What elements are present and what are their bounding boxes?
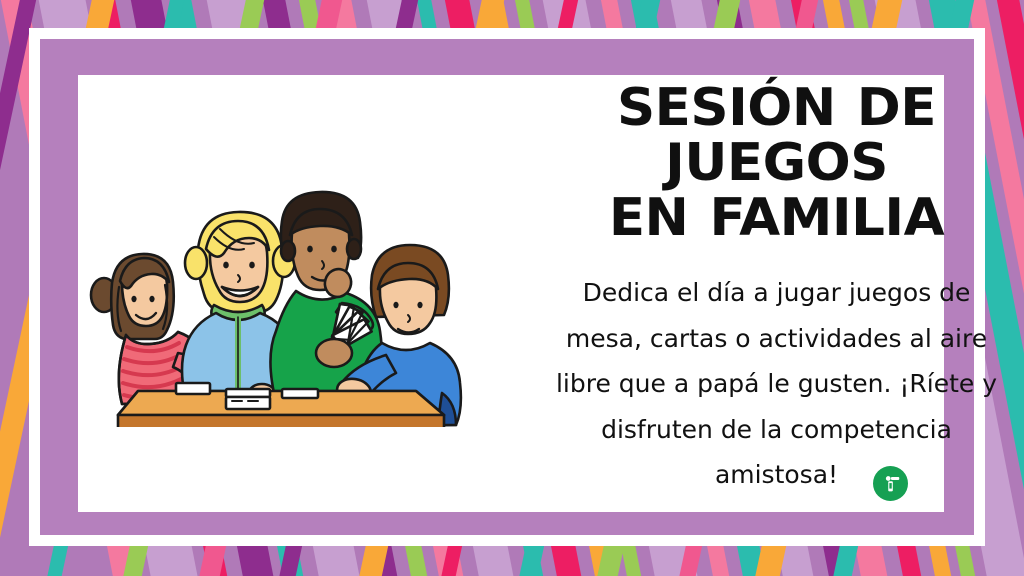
brand-logo <box>873 466 908 501</box>
leaf-logo-icon <box>880 473 902 495</box>
poster: SESIÓN DE JUEGOS EN FAMILIA Dedica el dí… <box>0 0 1024 576</box>
family-game-svg <box>86 187 466 427</box>
family-game-illustration <box>86 187 466 427</box>
page-title: SESIÓN DE JUEGOS EN FAMILIA <box>528 81 1024 246</box>
body-text: Dedica el día a jugar juegos de mesa, ca… <box>533 270 1020 498</box>
content-card: SESIÓN DE JUEGOS EN FAMILIA Dedica el dí… <box>78 75 944 512</box>
text-column: SESIÓN DE JUEGOS EN FAMILIA Dedica el dí… <box>533 81 1020 498</box>
title-line-1: SESIÓN DE JUEGOS <box>617 78 936 193</box>
title-line-2: EN FAMILIA <box>528 191 1024 246</box>
